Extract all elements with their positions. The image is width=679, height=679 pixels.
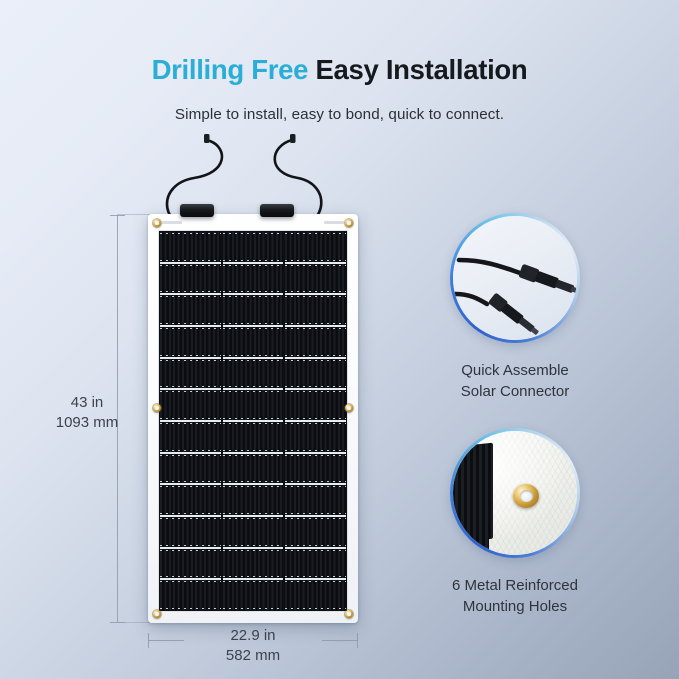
width-inches-text: 22.9 in: [183, 626, 323, 646]
solar-cell: [285, 485, 346, 515]
cell-column: [285, 232, 346, 610]
solar-cell: [285, 390, 346, 420]
callout-metal-reinforced-mounting-holes: 6 Metal Reinforced Mounting Holes: [398, 428, 632, 618]
solar-cell: [223, 422, 284, 452]
callout-image-frame-connector: [453, 216, 577, 340]
solar-cell: [160, 295, 221, 325]
solar-cell: [160, 359, 221, 389]
callout-label-holes: 6 Metal Reinforced Mounting Holes: [398, 575, 632, 618]
header-block: Drilling Free Easy Installation Simple t…: [0, 0, 679, 123]
cell-column: [160, 232, 221, 610]
callout-quick-assemble-solar-connector: Quick Assemble Solar Connector: [398, 213, 632, 403]
solar-cell: [223, 359, 284, 389]
solar-cell: [223, 454, 284, 484]
callout-ring-holes: [450, 428, 580, 558]
mounting-grommet-middle-right: [345, 404, 353, 412]
mounting-grommet-bottom-right: [345, 610, 353, 618]
title-accent-text: Drilling Free: [152, 54, 309, 85]
panel-print-mark-right: [324, 221, 344, 224]
junction-box-left: [180, 204, 214, 217]
height-dimension-label: 43 in 1093 mm: [28, 393, 146, 434]
solar-cell: [160, 485, 221, 515]
title-rest-text: Easy Installation: [308, 54, 527, 85]
height-dimension-bottom-cap: [110, 622, 125, 623]
height-millimeters-text: 1093 mm: [28, 413, 146, 433]
brass-grommet-closeup: [513, 484, 539, 508]
solar-cell: [285, 264, 346, 294]
height-dimension-top-cap: [110, 215, 125, 216]
width-dimension-line-right: [322, 640, 358, 641]
width-millimeters-text: 582 mm: [183, 646, 323, 666]
mounting-grommet-bottom-left: [153, 610, 161, 618]
solar-cell: [285, 327, 346, 357]
page-subtitle: Simple to install, easy to bond, quick t…: [0, 106, 679, 123]
solar-cell: [160, 422, 221, 452]
solar-cell: [223, 517, 284, 547]
solar-cell: [285, 549, 346, 579]
solar-cell: [160, 517, 221, 547]
mounting-grommet-top-right: [345, 219, 353, 227]
solar-cell: [223, 295, 284, 325]
solar-cell-edge-upper: [453, 443, 493, 544]
mounting-grommet-middle-left: [153, 404, 161, 412]
solar-cell: [160, 549, 221, 579]
solar-cell: [160, 580, 221, 610]
solar-cell: [223, 549, 284, 579]
flexible-solar-panel: [148, 214, 358, 623]
junction-box-right: [260, 204, 294, 217]
width-dimension-left-cap: [148, 633, 149, 648]
width-dimension-label: 22.9 in 582 mm: [183, 626, 323, 667]
solar-cell: [160, 327, 221, 357]
solar-cell: [285, 580, 346, 610]
page-title: Drilling Free Easy Installation: [0, 54, 679, 86]
solar-cell: [285, 517, 346, 547]
panel-print-mark-left: [162, 221, 182, 224]
solar-cell: [223, 264, 284, 294]
solar-cell: [223, 485, 284, 515]
solar-cell: [160, 264, 221, 294]
mounting-grommet-top-left: [153, 219, 161, 227]
callout-label-connector-line1: Quick Assemble: [398, 360, 632, 381]
solar-cell: [160, 390, 221, 420]
solar-cell: [285, 359, 346, 389]
callout-image-frame-holes: [453, 431, 577, 555]
solar-cell: [223, 390, 284, 420]
mc4-solar-connector-photo: [453, 216, 577, 340]
solar-cell: [285, 295, 346, 325]
callout-label-connector: Quick Assemble Solar Connector: [398, 360, 632, 403]
callout-label-holes-line1: 6 Metal Reinforced: [398, 575, 632, 596]
solar-cell: [285, 454, 346, 484]
width-dimension-right-cap: [357, 633, 358, 648]
callout-label-connector-line2: Solar Connector: [398, 381, 632, 402]
solar-cell: [285, 422, 346, 452]
callout-label-holes-line2: Mounting Holes: [398, 596, 632, 617]
solar-cell: [160, 454, 221, 484]
solar-cell: [223, 580, 284, 610]
width-dimension-line-left: [148, 640, 184, 641]
brass-grommet-macro-photo: [453, 431, 577, 555]
solar-cell-grid: [158, 230, 348, 612]
solar-cell: [223, 327, 284, 357]
height-inches-text: 43 in: [28, 393, 146, 413]
callout-ring-connector: [450, 213, 580, 343]
solar-cell: [285, 232, 346, 262]
solar-cell: [223, 232, 284, 262]
panel-laminate-body: [148, 214, 358, 623]
cell-column: [223, 232, 284, 610]
solar-cell: [160, 232, 221, 262]
